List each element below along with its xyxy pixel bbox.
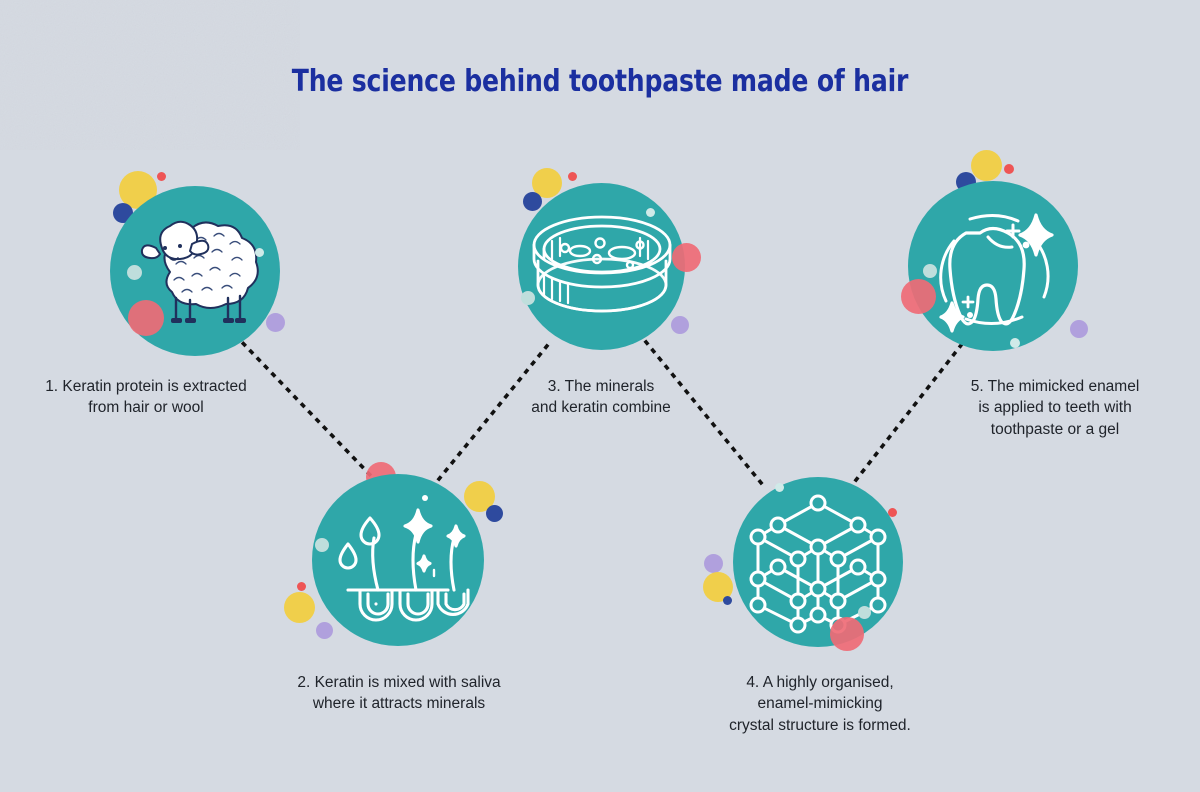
decor-dot-pale-teal — [923, 264, 937, 278]
decor-dot-red — [157, 172, 166, 181]
decor-dot-lilac — [266, 313, 285, 332]
decor-dot-lilac — [1070, 320, 1088, 338]
decor-dot-yellow — [284, 592, 315, 623]
decor-dot-pale-teal — [858, 606, 871, 619]
step-2-bubble[interactable] — [312, 474, 484, 646]
decor-dot-red — [568, 172, 577, 181]
crystal-lattice-icon — [733, 477, 903, 647]
decor-dot-coral — [830, 617, 864, 651]
page-title: The science behind toothpaste made of ha… — [42, 64, 1158, 99]
step-3-bubble[interactable] — [518, 183, 685, 350]
step-3-caption: 3. The minerals and keratin combine — [470, 376, 732, 419]
decor-dot-coral — [901, 279, 936, 314]
decor-dot-navy — [486, 505, 503, 522]
decor-dot-coral — [128, 300, 164, 336]
decor-dot-coral — [672, 243, 701, 272]
step-1-caption: 1. Keratin protein is extracted from hai… — [8, 376, 284, 419]
decor-dot-white — [1010, 338, 1020, 348]
decor-dot-white — [646, 208, 655, 217]
decor-dot-lilac — [671, 316, 689, 334]
step-2-caption: 2. Keratin is mixed with saliva where it… — [258, 672, 540, 715]
decor-dot-white — [775, 483, 784, 492]
decor-dot-pale-teal — [127, 265, 142, 280]
petri-dish-icon — [518, 183, 685, 350]
decor-dot-lilac — [704, 554, 723, 573]
decor-dot-lilac — [316, 622, 333, 639]
decor-dot-navy — [723, 596, 732, 605]
decor-dot-yellow — [971, 150, 1002, 181]
decor-dot-red — [1004, 164, 1014, 174]
decor-dot-pale-teal — [315, 538, 329, 552]
step-4-caption: 4. A highly organised, enamel-mimicking … — [688, 672, 952, 736]
decor-dot-red — [888, 508, 897, 517]
decor-dot-red — [297, 582, 306, 591]
decor-dot-white — [255, 248, 264, 257]
hair-follicles-icon — [312, 474, 484, 646]
decor-dot-pale-teal — [521, 291, 535, 305]
step-4-bubble[interactable] — [733, 477, 903, 647]
step-5-caption: 5. The mimicked enamel is applied to tee… — [930, 376, 1180, 440]
